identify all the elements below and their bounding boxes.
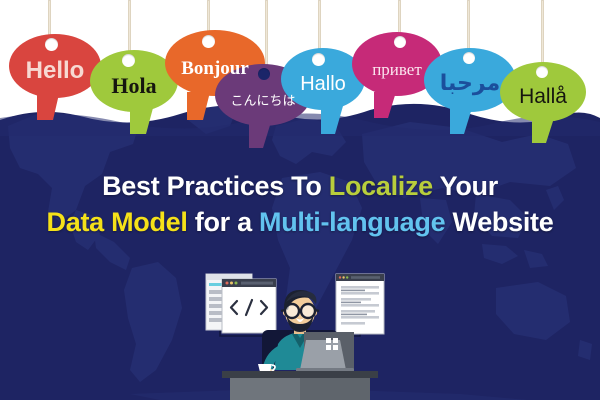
- bubble-tail: [374, 92, 396, 118]
- headline-highlight-localize: Localize: [329, 171, 433, 201]
- headline-line-2: Data Model for a Multi-language Website: [0, 204, 600, 240]
- bubble-label: Hello: [26, 59, 85, 83]
- bubble-tail: [130, 108, 153, 134]
- headline-highlight-data-model: Data Model: [47, 207, 188, 237]
- bubble-hole: [536, 66, 548, 78]
- bubble-label: Hola: [111, 75, 156, 97]
- headline-text-best-practices: Best Practices To: [102, 171, 329, 201]
- bubble-hole: [258, 68, 270, 80]
- string-marhaba: [467, 0, 470, 55]
- bubble-label: مرحبا: [440, 73, 500, 95]
- bubble-label: привет: [372, 61, 422, 78]
- bubble-tail: [532, 118, 554, 143]
- headline-line-1: Best Practices To Localize Your: [0, 168, 600, 204]
- bubble-tail: [187, 92, 210, 120]
- bubble-label: Hallo: [300, 74, 346, 94]
- headline: Best Practices To Localize Your Data Mod…: [0, 168, 600, 240]
- headline-text-your: Your: [433, 171, 498, 201]
- browser-window-code: [222, 279, 276, 333]
- string-hola: [128, 0, 131, 57]
- laptop: [296, 332, 354, 372]
- bubble-hole: [45, 38, 58, 51]
- bubble-hello[interactable]: Hello: [9, 34, 101, 98]
- bubble-tail: [37, 94, 59, 120]
- bubble-tail: [321, 106, 343, 134]
- localization-banner: Hello Hola Bonjour こんにちは Hallo привет مر…: [0, 0, 600, 400]
- string-halla: [541, 0, 544, 70]
- bubble-hole: [463, 52, 475, 64]
- bubble-hole: [202, 35, 215, 48]
- string-konnichiwa: [265, 0, 268, 72]
- bubble-hole: [312, 53, 325, 66]
- bubble-label: こんにちは: [230, 95, 295, 108]
- bubble-tail: [249, 122, 271, 148]
- string-hallo: [318, 0, 321, 55]
- bubble-tail: [450, 108, 472, 134]
- developer-illustration: [200, 258, 400, 400]
- document-window: [336, 274, 384, 334]
- bubble-label: Hallå: [519, 86, 567, 107]
- headline-text-website: Website: [445, 207, 553, 237]
- bubble-hole: [122, 54, 135, 67]
- headline-highlight-multi-language: Multi-language: [259, 207, 445, 237]
- desk: [222, 371, 378, 400]
- bubble-halla[interactable]: Hallå: [500, 62, 586, 122]
- headline-text-for-a: for a: [188, 207, 259, 237]
- bubble-hole: [394, 36, 406, 48]
